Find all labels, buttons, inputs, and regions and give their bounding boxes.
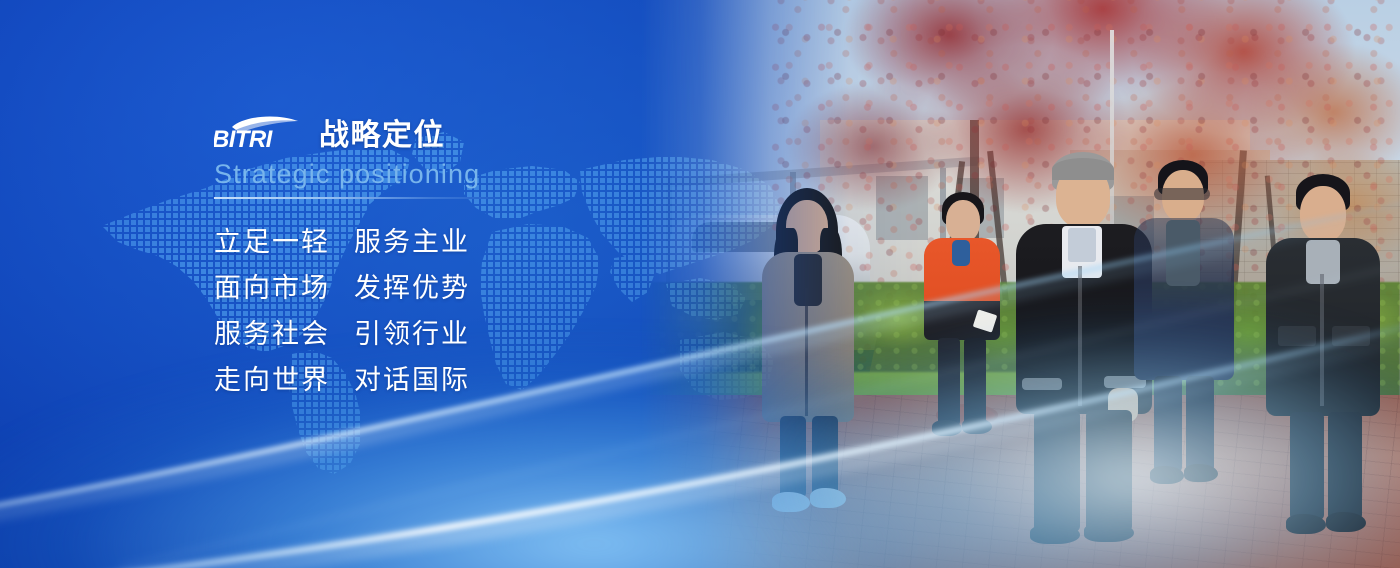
bitri-wordmark: BITRI bbox=[214, 126, 274, 152]
slogan-line: 面向市场 发挥优势 bbox=[214, 265, 634, 311]
slogan-left: 走向世界 bbox=[214, 357, 354, 403]
slogan-line: 走向世界 对话国际 bbox=[214, 357, 634, 403]
banner-content: BITRI 战略定位 Strategic positioning 立足一轻 服务… bbox=[214, 108, 634, 403]
photo-eyeglasses-icon bbox=[1154, 188, 1210, 200]
title-divider bbox=[214, 197, 514, 199]
slogan-right: 引领行业 bbox=[354, 311, 470, 357]
slogan-left: 立足一轻 bbox=[214, 219, 354, 265]
photo-person-woman-coat bbox=[750, 188, 870, 518]
strategic-positioning-banner: BITRI 战略定位 Strategic positioning 立足一轻 服务… bbox=[0, 0, 1400, 568]
subtitle-en: Strategic positioning bbox=[214, 159, 634, 189]
slogan-right: 服务主业 bbox=[354, 219, 470, 265]
photo-person-orange-jacket bbox=[918, 192, 1004, 462]
photo-person-blazer bbox=[1132, 160, 1238, 490]
bitri-logo[interactable]: BITRI bbox=[214, 112, 306, 152]
page-title: 战略定位 bbox=[319, 120, 445, 152]
photo-person-dark-jacket bbox=[1262, 174, 1384, 524]
slogan-right: 对话国际 bbox=[354, 357, 470, 403]
slogan-left: 服务社会 bbox=[214, 311, 354, 357]
slogan-list: 立足一轻 服务主业 面向市场 发挥优势 服务社会 引领行业 走向世界 对话国际 bbox=[214, 219, 634, 403]
slogan-left: 面向市场 bbox=[214, 265, 354, 311]
group-walking-photo bbox=[640, 0, 1400, 568]
title-row: BITRI 战略定位 bbox=[214, 108, 634, 152]
slogan-line: 服务社会 引领行业 bbox=[214, 311, 634, 357]
slogan-right: 发挥优势 bbox=[354, 265, 470, 311]
slogan-line: 立足一轻 服务主业 bbox=[214, 219, 634, 265]
